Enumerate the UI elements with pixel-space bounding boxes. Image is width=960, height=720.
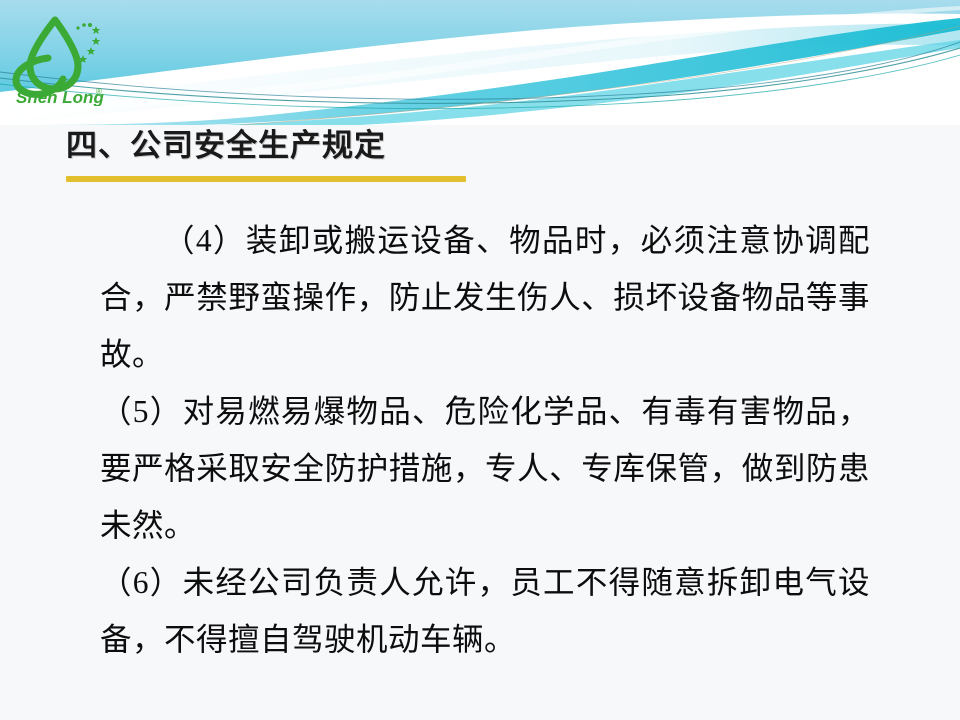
stars-icon [76,23,100,63]
page-title: 四、公司安全生产规定 [66,126,766,166]
header-wave-banner [0,0,960,125]
body-content: （4）装卸或搬运设备、物品时，必须注意协调配合，严禁野蛮操作，防止发生伤人、损坏… [100,212,870,668]
logo-wordmark: Shen Long [16,88,104,106]
presentation-slide: Shen Long ® 四、公司安全生产规定 （4）装卸或搬运设备、物品时，必须… [0,0,960,720]
registered-mark: ® [96,87,102,96]
title-block: 四、公司安全生产规定 [66,126,766,182]
company-logo: Shen Long ® [8,14,112,106]
body-paragraph-item-6: （6）未经公司负责人允许，员工不得随意拆卸电气设备，不得擅自驾驶机动车辆。 [100,554,870,668]
title-underline-rule [66,176,466,182]
body-paragraph-item-4: （4）装卸或搬运设备、物品时，必须注意协调配合，严禁野蛮操作，防止发生伤人、损坏… [100,212,870,383]
body-paragraph-item-5: （5）对易燃易爆物品、危险化学品、有毒有害物品，要严格采取安全防护措施，专人、专… [100,383,870,554]
